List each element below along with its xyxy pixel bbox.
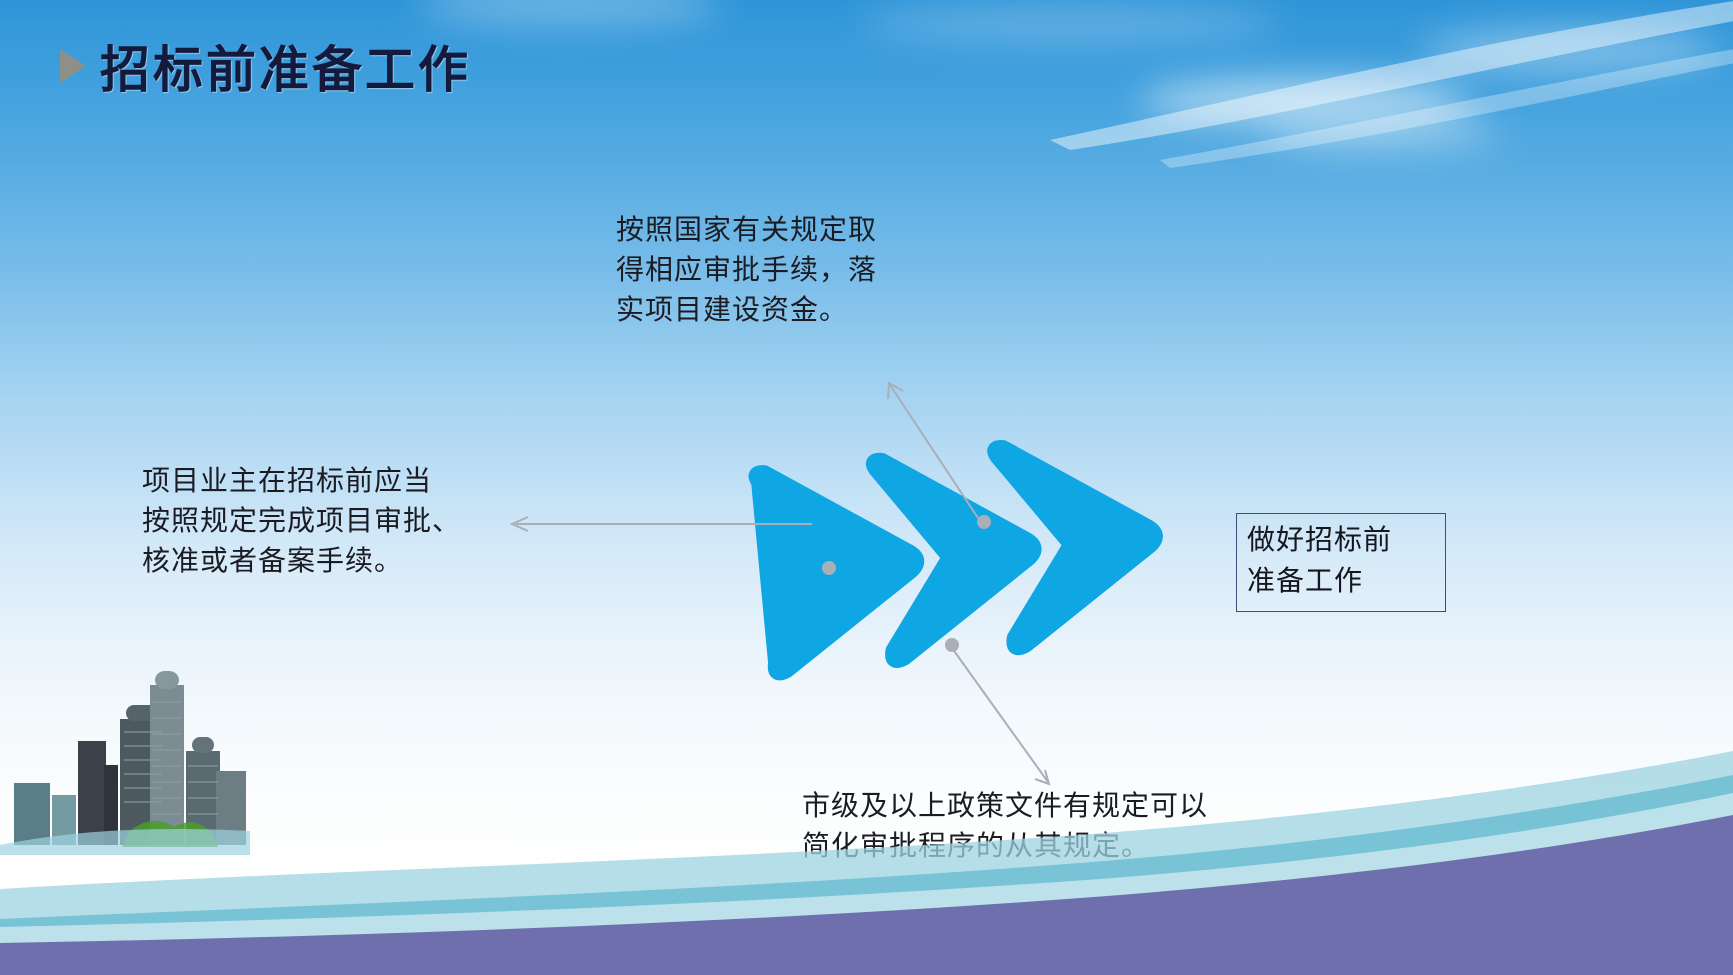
triangle-right-icon — [60, 49, 86, 83]
cloud-decoration — [1260, 118, 1500, 148]
arrowhead-top — [888, 383, 903, 399]
result-callout-box[interactable]: 做好招标前 准备工作 — [1236, 513, 1446, 612]
cloud-decoration — [420, 0, 720, 26]
chevron-group — [760, 440, 1220, 670]
cloud-streak-decoration — [1050, 0, 1733, 170]
cloud-decoration — [860, 6, 1280, 42]
note-left: 项目业主在招标前应当 按照规定完成项目审批、 核准或者备案手续。 — [142, 461, 461, 580]
note-top: 按照国家有关规定取 得相应审批手续，落 实项目建设资金。 — [616, 210, 877, 329]
arrowhead-left — [512, 517, 528, 531]
page-title-text: 招标前准备工作 — [100, 30, 471, 102]
slide-canvas: 招标前准备工作 按照国家有关规定取 得相应审批手续，落 — [0, 0, 1733, 975]
cloud-decoration — [1420, 30, 1720, 70]
cloud-decoration — [1140, 78, 1470, 124]
wave-decoration — [0, 675, 1733, 975]
page-title: 招标前准备工作 — [60, 30, 471, 102]
